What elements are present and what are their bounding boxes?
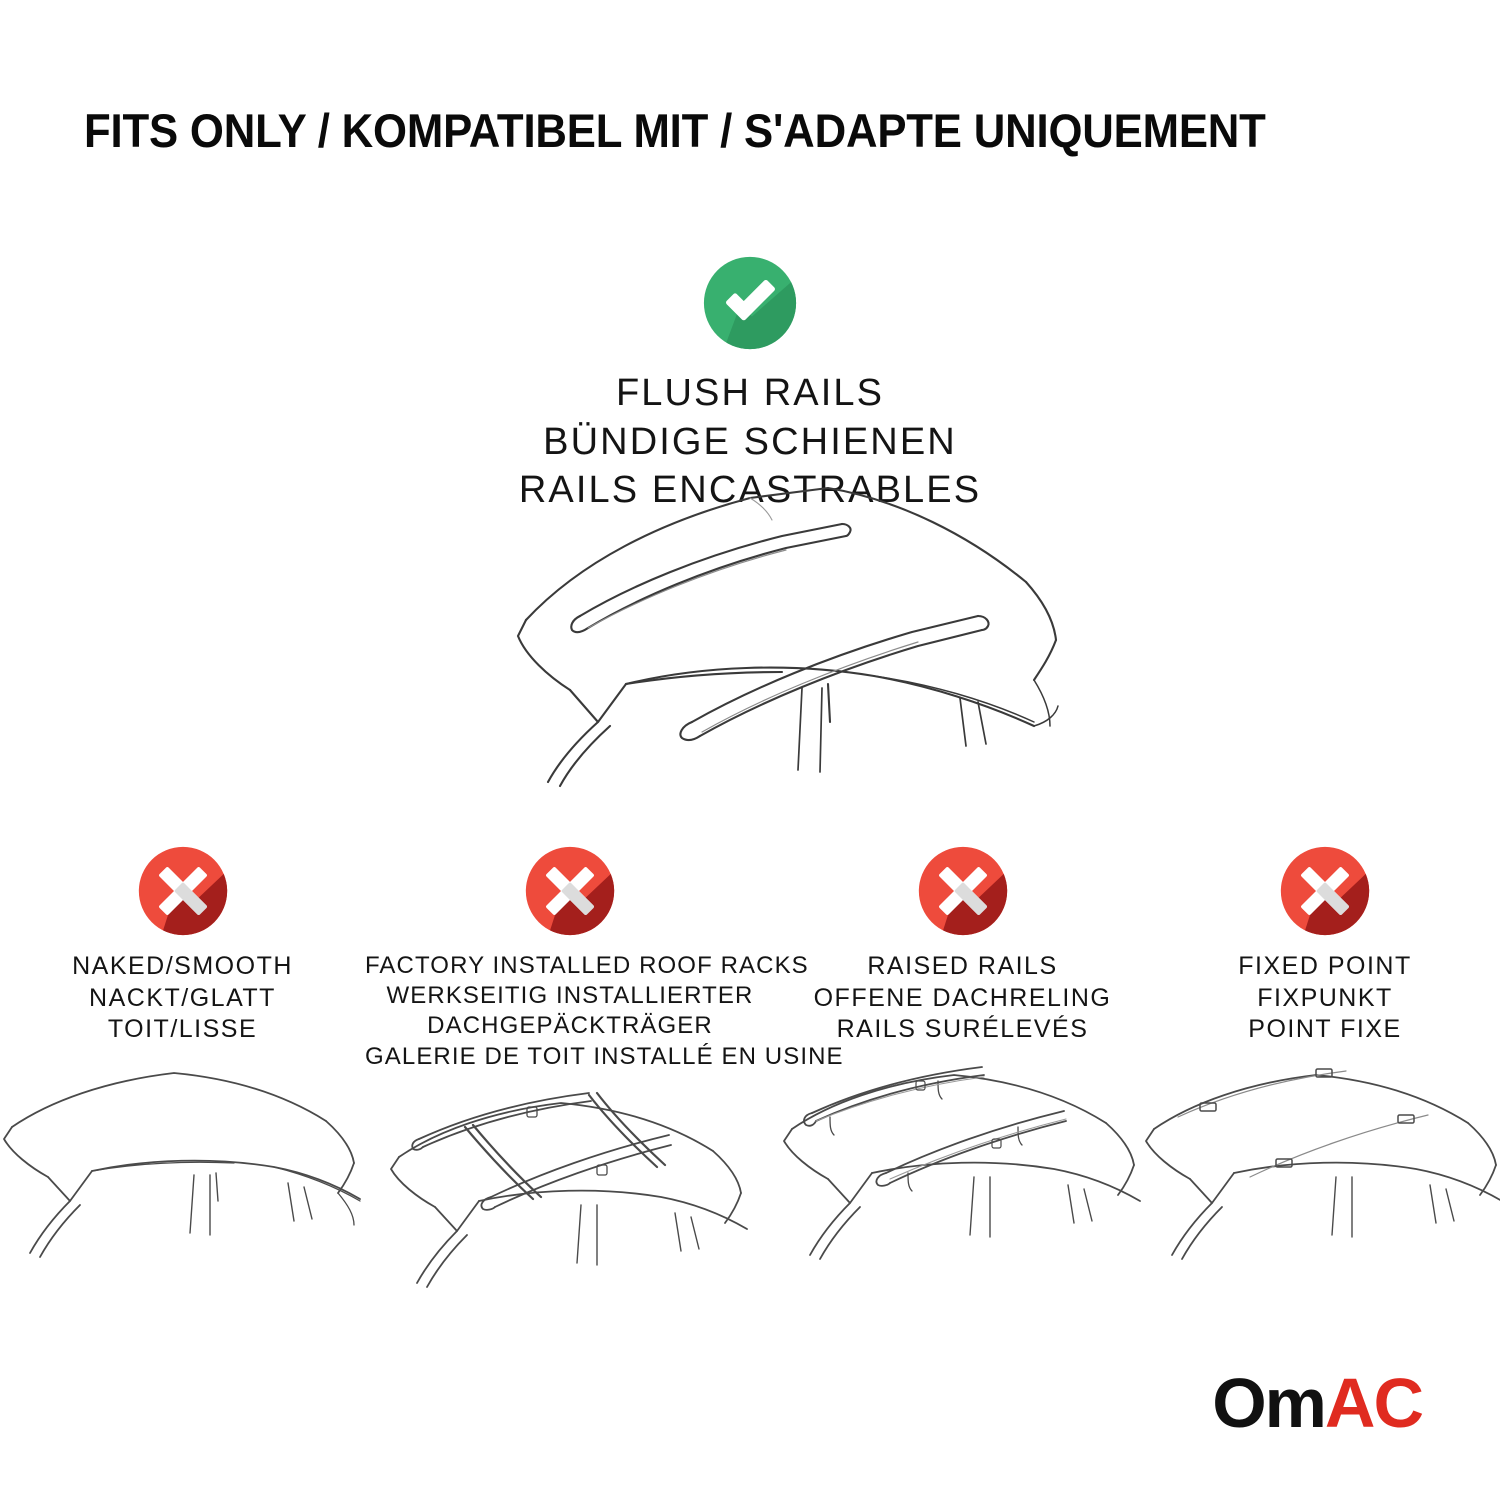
incompatible-label-fixed-point: FIXED POINT FIXPUNKT POINT FIXE bbox=[1150, 951, 1500, 1046]
incompatible-item-factory-roof-racks: FACTORY INSTALLED ROOF RACKS WERKSEITIG … bbox=[365, 845, 775, 1072]
label-line-fr: TOIT/LISSE bbox=[0, 1014, 365, 1046]
x-circle-icon bbox=[137, 845, 229, 937]
x-circle-icon bbox=[917, 845, 1009, 937]
incompatible-section: NAKED/SMOOTH NACKT/GLATT TOIT/LISSE bbox=[0, 845, 1500, 1072]
check-circle-icon bbox=[702, 255, 798, 351]
car-roof-with-raised-rails-illustration bbox=[768, 1055, 1158, 1275]
label-line-fr: RAILS SURÉLEVÉS bbox=[775, 1014, 1150, 1046]
car-roof-with-fixed-points-illustration bbox=[1130, 1055, 1500, 1275]
page-title: FITS ONLY / KOMPATIBEL MIT / S'ADAPTE UN… bbox=[84, 107, 1330, 154]
compatible-section: FLUSH RAILS BÜNDIGE SCHIENEN RAILS ENCAS… bbox=[0, 255, 1500, 515]
logo-text-red: AC bbox=[1325, 1364, 1422, 1442]
incompatible-label-factory-roof-racks: FACTORY INSTALLED ROOF RACKS WERKSEITIG … bbox=[365, 951, 775, 1072]
x-circle-icon bbox=[1279, 845, 1371, 937]
label-line-en: FACTORY INSTALLED ROOF RACKS bbox=[365, 951, 775, 981]
car-roof-with-factory-crossbars-illustration bbox=[375, 1083, 765, 1303]
label-line-en: RAISED RAILS bbox=[775, 951, 1150, 983]
logo-text-black: Om bbox=[1212, 1364, 1325, 1442]
incompatible-item-fixed-point: FIXED POINT FIXPUNKT POINT FIXE bbox=[1150, 845, 1500, 1046]
label-line-de: NACKT/GLATT bbox=[0, 983, 365, 1015]
label-line-de: OFFENE DACHRELING bbox=[775, 983, 1150, 1015]
label-line-de-1: WERKSEITIG INSTALLIERTER bbox=[365, 981, 775, 1011]
omac-logo: OmAC bbox=[1212, 1368, 1422, 1438]
label-line-en: FIXED POINT bbox=[1150, 951, 1500, 983]
label-line-de-2: DACHGEPÄCKTRÄGER bbox=[365, 1011, 775, 1041]
car-roof-naked-smooth-illustration bbox=[0, 1055, 378, 1275]
incompatible-label-raised-rails: RAISED RAILS OFFENE DACHRELING RAILS SUR… bbox=[775, 951, 1150, 1046]
label-line-fr: GALERIE DE TOIT INSTALLÉ EN USINE bbox=[365, 1042, 775, 1072]
incompatible-item-naked-smooth: NAKED/SMOOTH NACKT/GLATT TOIT/LISSE bbox=[0, 845, 365, 1046]
label-line-en: NAKED/SMOOTH bbox=[0, 951, 365, 983]
label-line-fr: POINT FIXE bbox=[1150, 1014, 1500, 1046]
x-circle-icon bbox=[524, 845, 616, 937]
compatible-label-de: BÜNDIGE SCHIENEN bbox=[0, 418, 1500, 467]
label-line-de: FIXPUNKT bbox=[1150, 983, 1500, 1015]
car-roof-with-flush-rails-illustration bbox=[430, 470, 1090, 800]
incompatible-label-naked-smooth: NAKED/SMOOTH NACKT/GLATT TOIT/LISSE bbox=[0, 951, 365, 1046]
incompatible-item-raised-rails: RAISED RAILS OFFENE DACHRELING RAILS SUR… bbox=[775, 845, 1150, 1046]
compatible-label-en: FLUSH RAILS bbox=[0, 369, 1500, 418]
